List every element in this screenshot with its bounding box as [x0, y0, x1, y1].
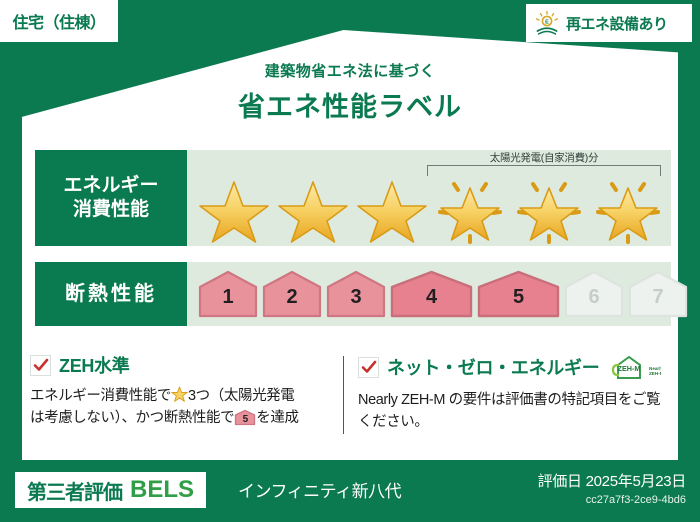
zeh-body-part3: は考慮しない）、かつ断熱性能で	[30, 410, 234, 426]
zeh-body-part2: 3つ（太陽光発電	[188, 388, 294, 404]
insulation-level-num: 1	[197, 269, 259, 319]
star-icon	[197, 176, 271, 244]
property-name: インフィニティ新八代	[238, 477, 401, 502]
insulation-performance-row: 断熱性能 1 2	[35, 262, 671, 326]
document-id: cc27a7f3-2ce9-4bd6	[538, 494, 686, 506]
zeh-standard-body: エネルギー消費性能で 3つ（太陽光発電は考慮しない）、かつ断熱性能で 5を達成	[30, 385, 340, 430]
insulation-level-num: 7	[627, 269, 689, 319]
insulation-level-7: 7	[627, 269, 689, 319]
zeh-standard-block: ZEH水準 エネルギー消費性能で 3つ（太陽光発電は考慮しない）、かつ断熱性能で…	[30, 352, 340, 434]
insulation-level-4: 4	[389, 269, 474, 319]
insulation-level-num: 3	[325, 269, 387, 319]
star-rating-group	[195, 176, 667, 244]
dwelling-type-label: 住宅（住棟）	[12, 9, 105, 33]
evaluation-date: 評価日 2025年5月23日	[538, 470, 686, 491]
checkbox-checked-icon	[30, 355, 51, 376]
energy-performance-row: エネルギー 消費性能 太陽光発電(自家消費)分	[35, 150, 671, 246]
inline-house-badge: 5	[234, 409, 256, 426]
insulation-level-2: 2	[261, 269, 323, 319]
inline-star-icon	[171, 386, 188, 403]
energy-label-line2: 消費性能	[73, 198, 149, 222]
net-zero-title: ネット・ゼロ・エネルギー	[387, 354, 599, 380]
renewable-equipment-badge: E 再エネ設備あり	[526, 4, 692, 42]
net-zero-energy-block: ネット・ゼロ・エネルギー ZEH-M Nearly ZEH-M Nearly Z…	[358, 352, 668, 434]
zeh-standard-header: ZEH水準	[30, 352, 340, 378]
title-block: 建築物省エネ法に基づく 省エネ性能ラベル	[0, 60, 700, 124]
star-icon-solar	[512, 176, 586, 244]
solar-annotation-text: 太陽光発電(自家消費)分	[423, 150, 665, 165]
footer-meta: 評価日 2025年5月23日 cc27a7f3-2ce9-4bd6	[538, 470, 686, 506]
star-icon	[276, 176, 350, 244]
solar-sun-icon: E	[534, 10, 560, 36]
energy-performance-label: エネルギー 消費性能	[35, 150, 187, 246]
insulation-performance-label: 断熱性能	[35, 262, 187, 326]
insulation-level-3: 3	[325, 269, 387, 319]
insulation-level-5: 5	[476, 269, 561, 319]
third-party-eval-label: 第三者評価	[27, 476, 122, 505]
label-title: 省エネ性能ラベル	[0, 85, 700, 124]
insulation-level-num: 2	[261, 269, 323, 319]
checkbox-checked-icon	[358, 357, 379, 378]
star-icon-solar	[591, 176, 665, 244]
dwelling-type-tag: 住宅（住棟）	[0, 0, 118, 42]
insulation-level-num: 6	[563, 269, 625, 319]
net-zero-body: Nearly ZEH-M の要件は評価書の特記項目をご覧ください。	[358, 389, 668, 434]
inline-house-num: 5	[234, 409, 256, 426]
insulation-level-num: 4	[389, 269, 474, 319]
insulation-level-1: 1	[197, 269, 259, 319]
zeh-body-part4: を達成	[256, 410, 298, 426]
zeh-m-logo-icon: ZEH-M Nearly ZEH-M	[609, 352, 661, 382]
renewable-badge-label: 再エネ設備あり	[566, 13, 668, 34]
insulation-level-6: 6	[563, 269, 625, 319]
svg-text:E: E	[545, 20, 549, 26]
zeh-standard-title: ZEH水準	[59, 352, 130, 378]
solar-annotation-bracket	[427, 165, 661, 176]
solar-contribution-annotation: 太陽光発電(自家消費)分	[423, 150, 665, 178]
insulation-performance-value: 1 2 3 4	[187, 262, 671, 326]
svg-text:ZEH-M: ZEH-M	[649, 371, 661, 376]
criteria-section: ZEH水準 エネルギー消費性能で 3つ（太陽光発電は考慮しない）、かつ断熱性能で…	[30, 352, 670, 434]
energy-label-line1: エネルギー	[63, 174, 158, 198]
energy-performance-value: 太陽光発電(自家消費)分	[187, 150, 671, 246]
zeh-body-part1: エネルギー消費性能で	[30, 388, 171, 404]
svg-text:ZEH-M: ZEH-M	[618, 364, 641, 373]
insulation-level-group: 1 2 3 4	[197, 268, 663, 320]
star-icon-solar	[433, 176, 507, 244]
label-subtitle: 建築物省エネ法に基づく	[0, 60, 700, 81]
insulation-level-num: 5	[476, 269, 561, 319]
insulation-label-text: 断熱性能	[65, 282, 157, 307]
energy-label-root: 住宅（住棟） E 再エネ設備あり 建築物省エネ法に基づく 省エネ性能ラベ	[0, 0, 700, 522]
bels-footer-box: 第三者評価 BELS	[15, 472, 206, 508]
net-zero-header: ネット・ゼロ・エネルギー ZEH-M Nearly ZEH-M	[358, 352, 668, 382]
bels-logo-text: BELS	[130, 476, 194, 504]
star-icon	[355, 176, 429, 244]
